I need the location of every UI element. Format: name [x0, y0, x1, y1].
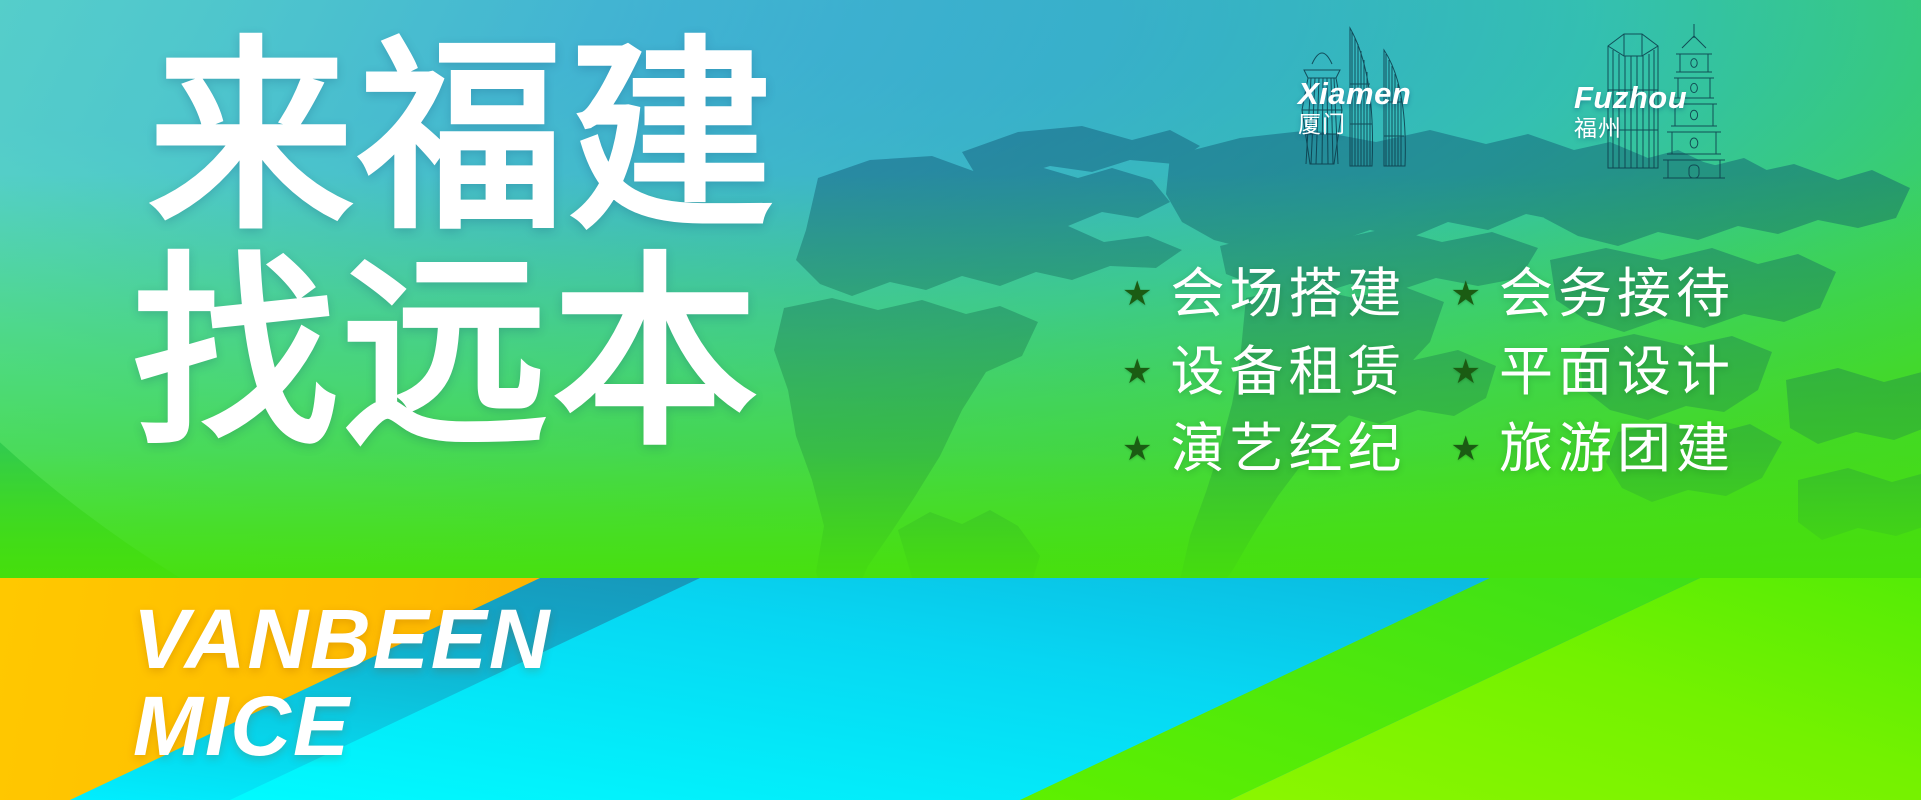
service-label: 会场搭建	[1170, 262, 1406, 326]
service-label: 平面设计	[1499, 340, 1735, 404]
service-label: 会务接待	[1499, 262, 1735, 326]
service-item: ★ 平面设计	[1450, 340, 1734, 404]
service-list: ★ 会场搭建 ★ 会务接待 ★ 设备租赁 ★ 平面设计 ★ 演艺经纪 ★ 旅游团…	[1122, 262, 1735, 481]
star-icon: ★	[1450, 277, 1480, 311]
brand-line-1: VANBEEN	[133, 600, 552, 679]
city-landmark-strip: Xiamen 厦门 VANBEEN MICE 福建远本	[1290, 0, 1850, 185]
brand-line-2: MICE	[133, 687, 552, 766]
star-icon: ★	[1450, 432, 1480, 466]
bottom-brand-bar: VANBEEN MICE	[0, 578, 1921, 800]
service-item: ★ 演艺经纪	[1122, 417, 1406, 481]
city-name-en-fuzhou: Fuzhou	[1574, 82, 1687, 113]
service-label: 旅游团建	[1499, 417, 1735, 481]
city-label-xiamen: Xiamen 厦门	[1298, 78, 1411, 138]
service-label: 设备租赁	[1170, 340, 1406, 404]
star-icon: ★	[1122, 277, 1152, 311]
city-name-cn-fuzhou: 福州	[1574, 116, 1687, 142]
headline-line-1: 来福建	[148, 38, 778, 240]
headline-line-2: 找远本	[132, 254, 778, 456]
service-item: ★ 设备租赁	[1122, 340, 1406, 404]
star-icon: ★	[1450, 355, 1480, 389]
brand-wordmark: VANBEEN MICE	[133, 600, 552, 766]
service-item: ★ 旅游团建	[1450, 417, 1734, 481]
city-name-cn-xiamen: 厦门	[1298, 112, 1411, 138]
service-label: 演艺经纪	[1170, 417, 1406, 481]
page-title: 来福建 找远本	[148, 38, 778, 456]
main-panel: 来福建 找远本	[0, 0, 1921, 578]
city-label-fuzhou: Fuzhou 福州	[1574, 82, 1687, 142]
service-item: ★ 会场搭建	[1122, 262, 1406, 326]
star-icon: ★	[1122, 355, 1152, 389]
promotional-banner: 来福建 找远本	[0, 0, 1921, 800]
city-name-en-xiamen: Xiamen	[1298, 78, 1411, 109]
star-icon: ★	[1122, 432, 1152, 466]
service-item: ★ 会务接待	[1450, 262, 1734, 326]
